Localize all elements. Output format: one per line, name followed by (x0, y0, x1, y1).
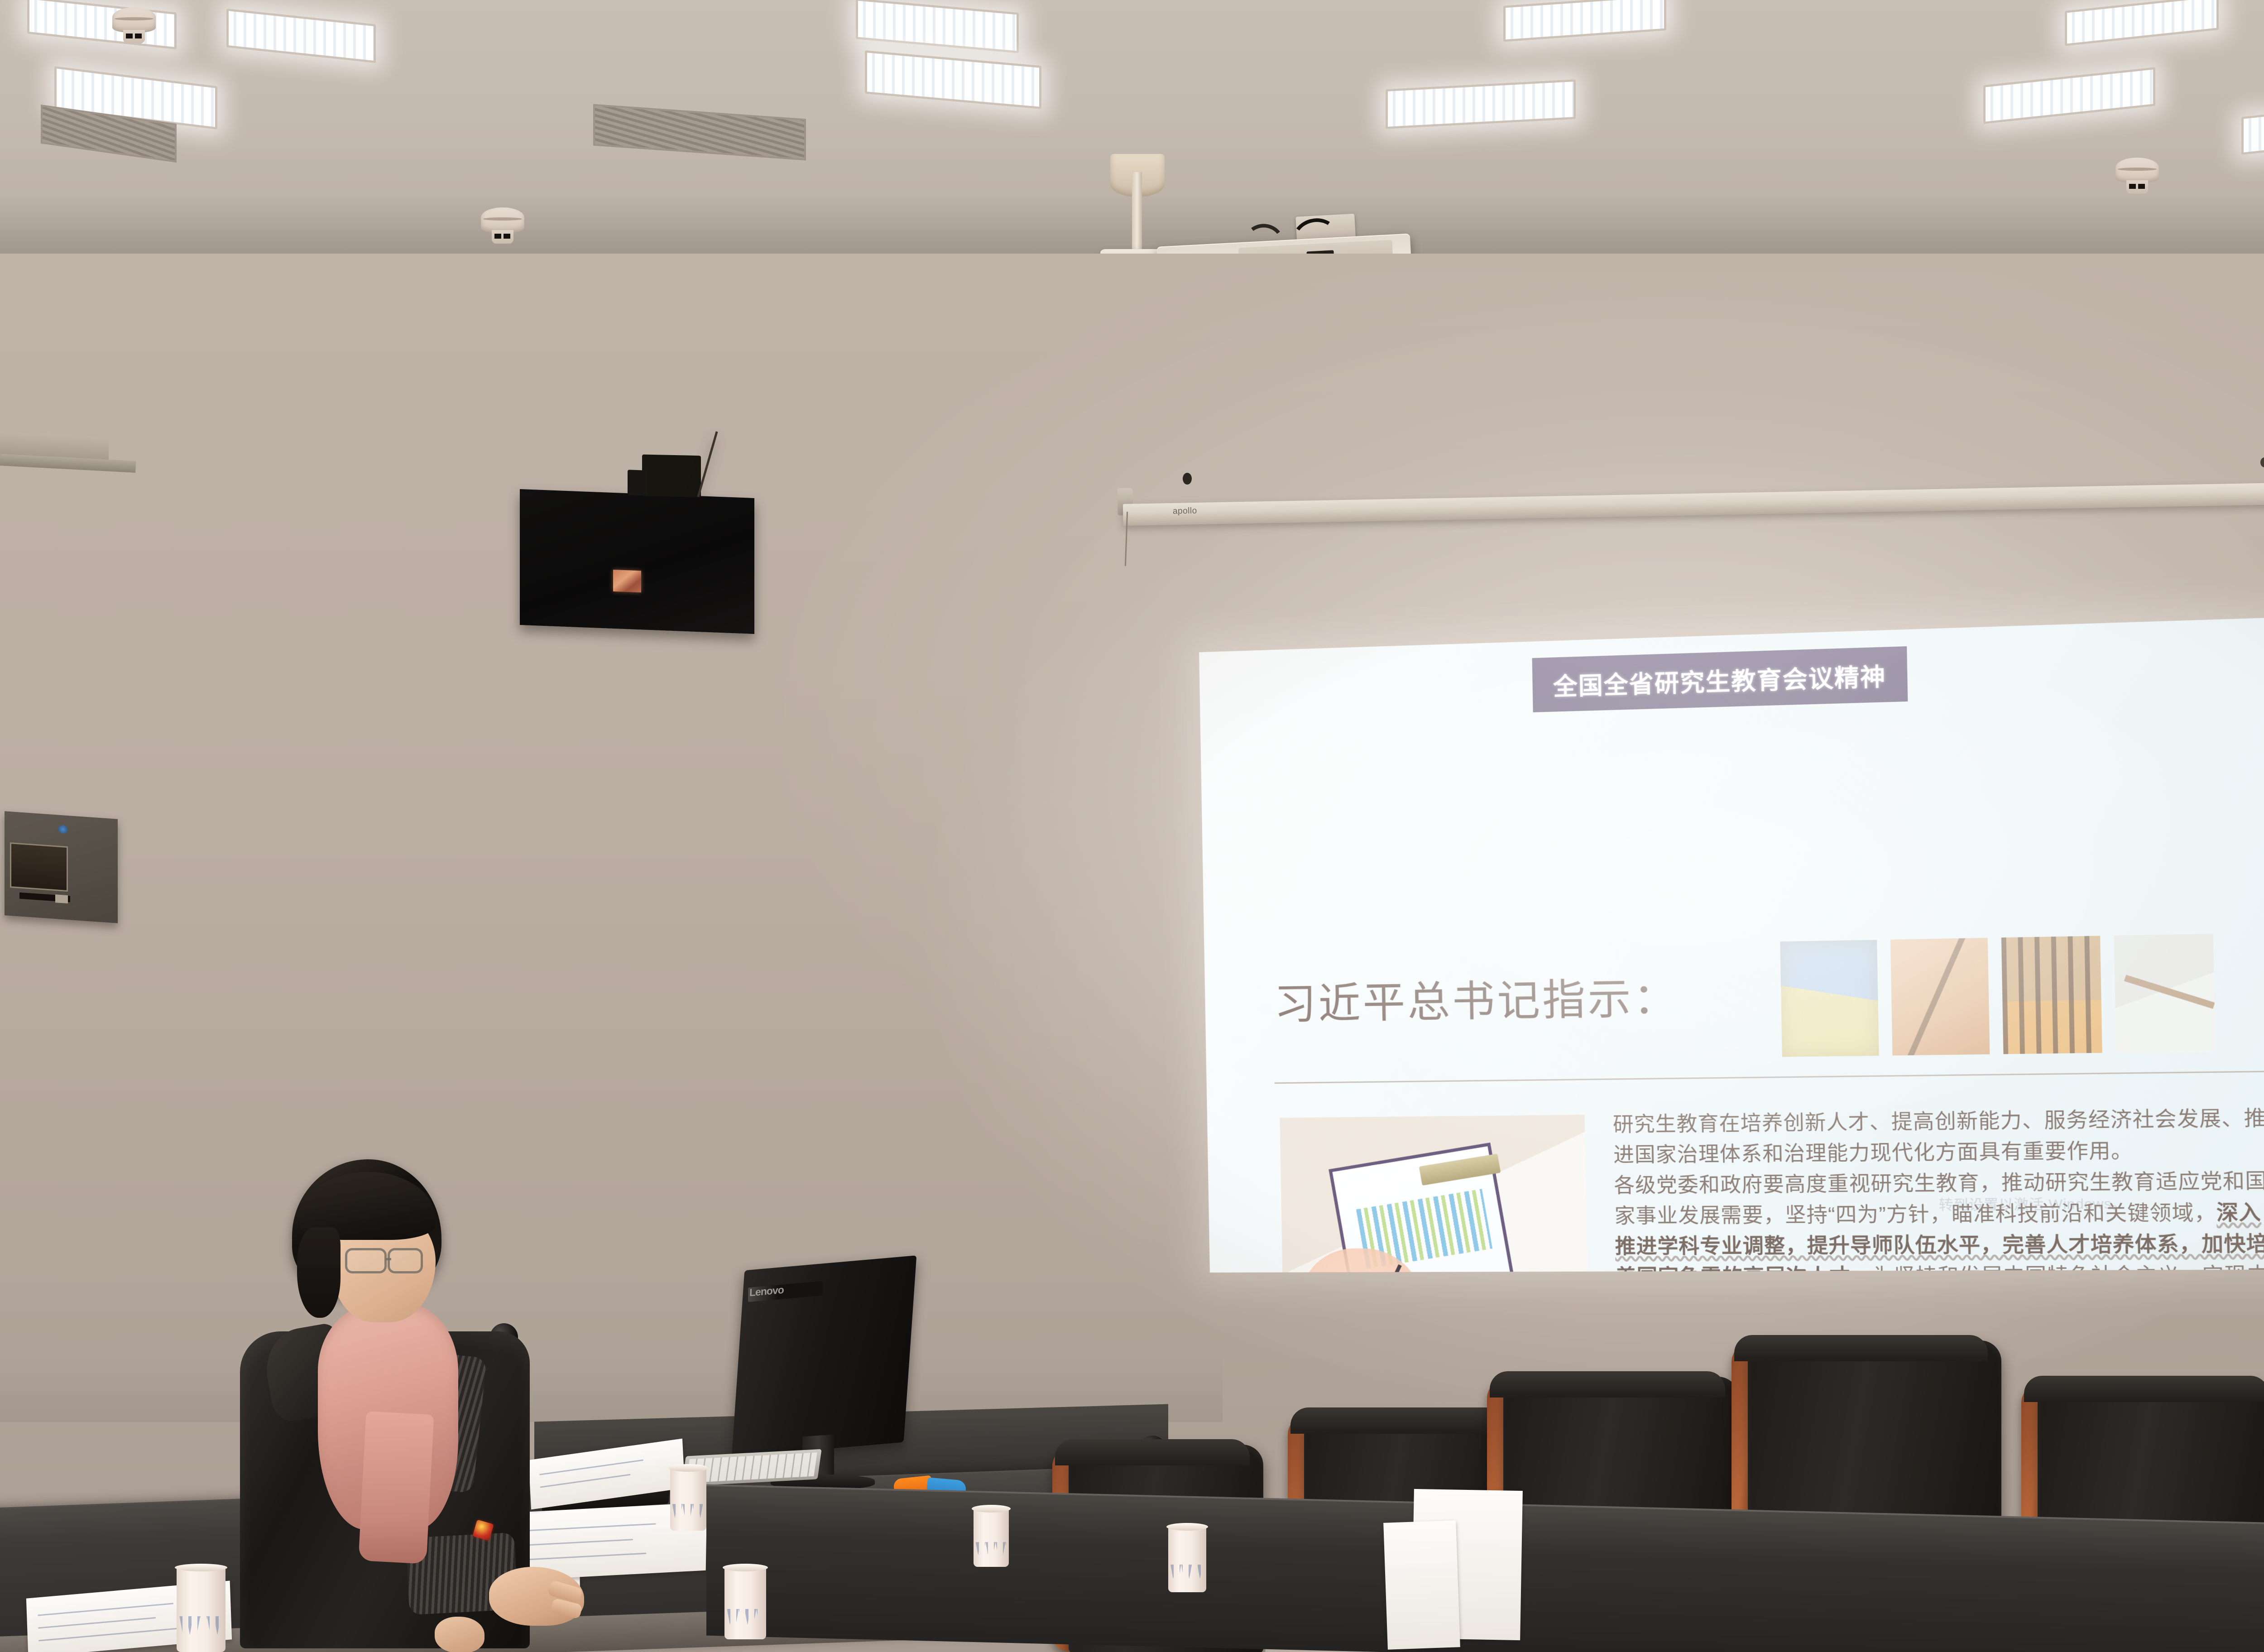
slide-thumbnail-strip (1780, 934, 2215, 1061)
slide-body-text: 研究生教育在培养创新人才、提高创新能力、服务经济社会发展、推进国家治理体系和治理… (1612, 1103, 2264, 1273)
wall-control-panel[interactable] (5, 811, 118, 923)
photo-thumb-keyboard (2114, 934, 2216, 1053)
projected-slide-area: 全国全省研究生教育会议精神 习近平总书记指示： 研究生教育在培养创新人才、提高创… (1199, 615, 2264, 1273)
slide-banner-label: 全国全省研究生教育会议精神 (1553, 657, 1886, 702)
display-screen-image (613, 570, 641, 592)
powerpoint-slide: 全国全省研究生教育会议精神 习近平总书记指示： 研究生教育在培养创新人才、提高创… (1199, 615, 2264, 1273)
slide-divider-rule (1275, 1071, 2264, 1084)
hair-side (297, 1227, 341, 1318)
eyeglasses-bridge (386, 1258, 391, 1260)
windows-activation-watermark: 转到设置以激活 Windows。 (1938, 1192, 2127, 1214)
left-hand (435, 1617, 484, 1652)
slide-paragraph-2: 各级党委和政府要高度重视研究生教育，推动研究生教育适应党和国家事业发展需要，坚持… (1614, 1166, 2264, 1273)
wall-hook-icon (1183, 473, 1192, 485)
control-panel-tag (55, 894, 68, 903)
eyeglasses-right-lens (388, 1248, 423, 1273)
photo-thumb-railing (2001, 936, 2102, 1054)
smoke-detector-icon (2115, 158, 2159, 197)
pink-scarf-tail (358, 1411, 434, 1564)
fan-downrod (1132, 172, 1142, 258)
paper-cup (724, 1567, 766, 1639)
display-mount-bracket (642, 455, 701, 498)
photo-thumb-pencil (1890, 938, 1990, 1056)
display-mount-arm (628, 470, 648, 496)
speaker-person (213, 1159, 611, 1652)
control-panel-led-icon (58, 825, 68, 834)
conference-room-scene: apollo 全国全省研究生教育会议精神 习近平总书记指示： (0, 0, 2264, 1652)
paper-cup (1168, 1526, 1206, 1592)
slide-header-banner: 全国全省研究生教育会议精神 (1532, 646, 1908, 712)
slide-title: 习近平总书记指示： (1274, 964, 1679, 1031)
slide-paragraph-1: 研究生教育在培养创新人才、提高创新能力、服务经济社会发展、推进国家治理体系和治理… (1612, 1103, 2264, 1171)
roller-brand-label: apollo (1173, 506, 1197, 517)
paper-cup (974, 1508, 1009, 1567)
control-panel-screen (10, 842, 68, 892)
photo-clipboard-chart (1280, 1115, 1589, 1273)
smoke-detector-icon (481, 207, 524, 247)
wall-mounted-display (520, 489, 754, 634)
paper-cup (670, 1467, 706, 1531)
smoke-detector-icon (112, 7, 156, 47)
photo-thumb-flasks (1780, 940, 1879, 1057)
eyeglasses-left-lens (345, 1248, 387, 1273)
document-sheet (1383, 1520, 1460, 1649)
